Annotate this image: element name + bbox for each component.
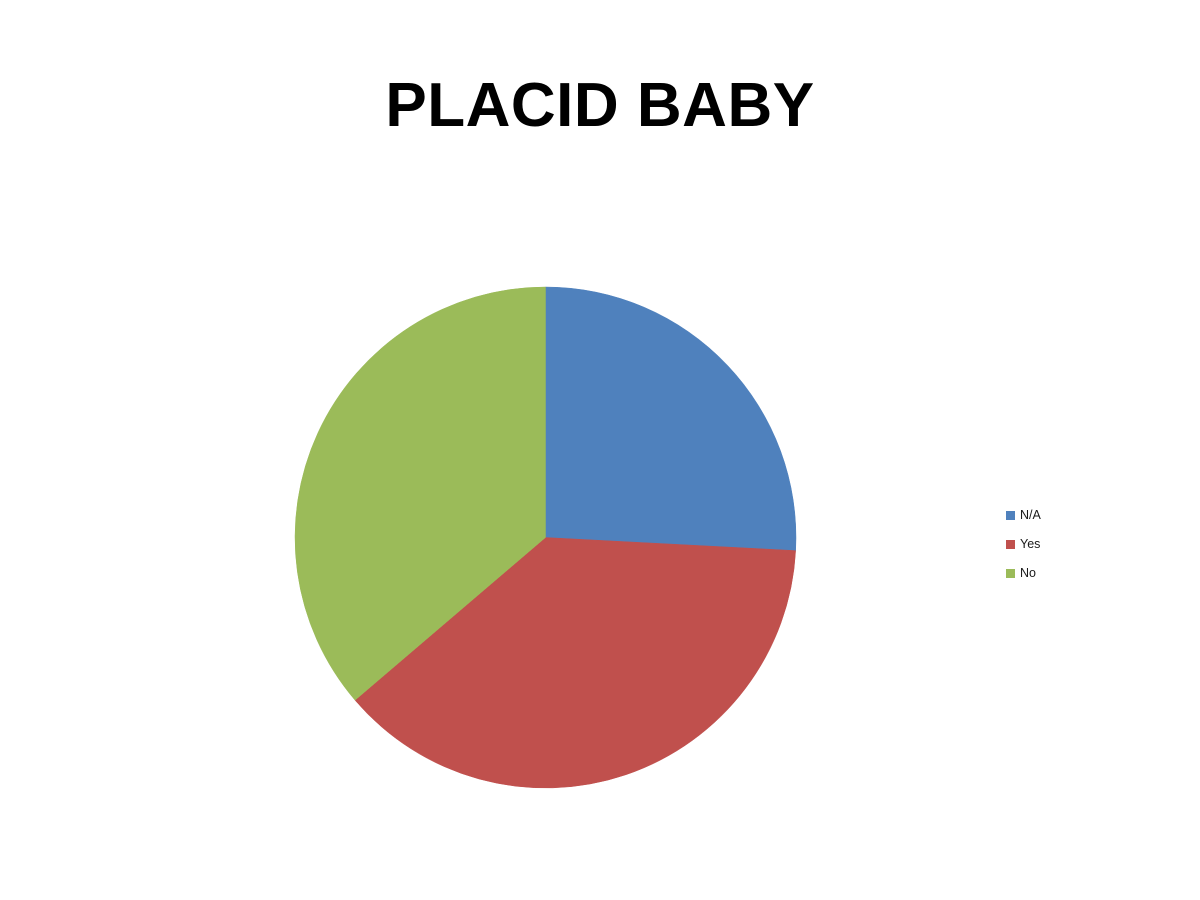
legend-label-yes: Yes <box>1020 538 1040 551</box>
legend-swatch-yes-icon <box>1006 540 1015 549</box>
legend-swatch-na-icon <box>1006 511 1015 520</box>
legend-item-yes[interactable]: Yes <box>1006 530 1126 559</box>
legend-item-no[interactable]: No <box>1006 559 1126 588</box>
pie-slice-n-a[interactable] <box>546 287 797 551</box>
pie-chart-plot-area <box>295 287 796 788</box>
pie-chart-svg <box>295 287 796 788</box>
legend-swatch-no-icon <box>1006 569 1015 578</box>
legend-item-na[interactable]: N/A <box>1006 501 1126 530</box>
legend-label-no: No <box>1020 567 1036 580</box>
slide-canvas: PLACID BABY N/A Yes No <box>0 0 1200 900</box>
pie-slice-group <box>295 287 796 788</box>
chart-legend: N/A Yes No <box>1006 501 1126 588</box>
page-title: PLACID BABY <box>0 72 1200 140</box>
legend-label-na: N/A <box>1020 509 1041 522</box>
